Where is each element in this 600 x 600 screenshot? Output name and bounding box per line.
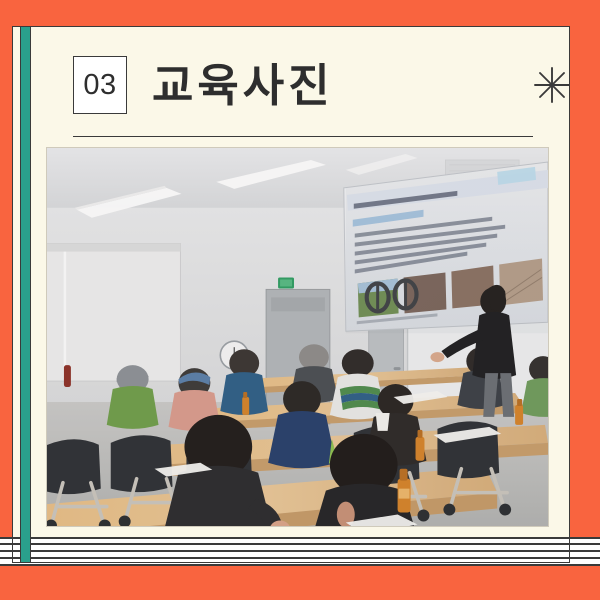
teal-accent-bar-front [20, 26, 31, 563]
stripe-line [0, 543, 600, 545]
education-photo-frame [46, 147, 549, 527]
bottom-stripe-pattern [0, 537, 600, 570]
stripe-line [0, 550, 600, 552]
stripe-line [0, 557, 600, 559]
stripe-line [0, 537, 600, 539]
education-photo [47, 148, 548, 526]
page-title: 교육사진 [152, 63, 334, 108]
classroom-scene-illustration [47, 148, 548, 526]
stripe-line [0, 564, 600, 566]
section-number: 03 [83, 71, 116, 100]
poster-canvas: 03 교육사진 [0, 0, 600, 600]
header-divider [73, 136, 533, 137]
stripe-stack [0, 537, 600, 570]
section-number-box: 03 [73, 56, 127, 114]
sparkle-asterisk-icon [532, 65, 572, 105]
header: 03 교육사진 [73, 54, 572, 116]
